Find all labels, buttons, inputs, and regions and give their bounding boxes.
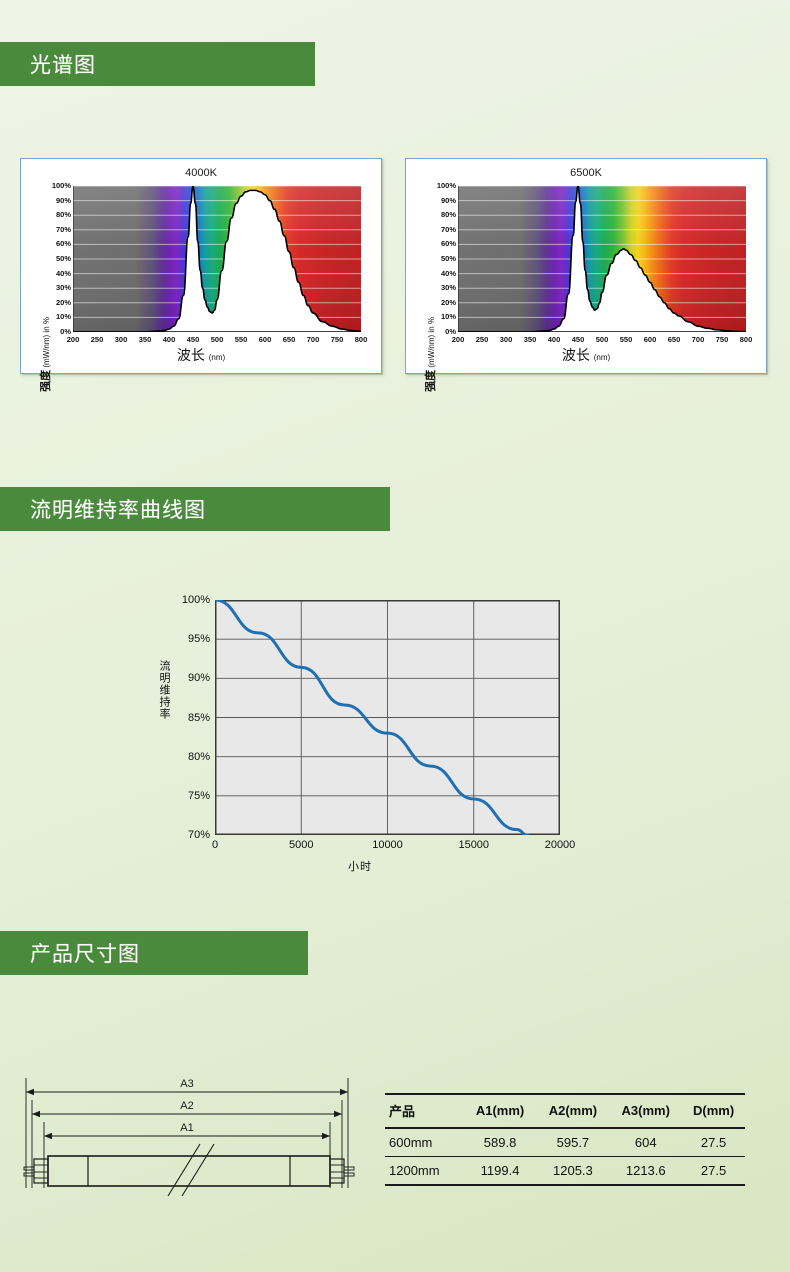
spectrum-ytick: 90%	[441, 197, 456, 205]
spectrum-xtick: 250	[476, 335, 489, 344]
table-row: 600mm589.8595.760427.5	[385, 1128, 745, 1157]
table-cell: 27.5	[682, 1128, 745, 1157]
spectrum-xtick: 500	[596, 335, 609, 344]
spectrum-chart-6500k-title: 6500K	[406, 167, 766, 179]
spectrum-xtick: 750	[331, 335, 344, 344]
product-dimension-drawing: A3A2A1	[18, 1060, 373, 1225]
spectrum-xtick: 600	[644, 335, 657, 344]
dimension-label: A3	[180, 1078, 193, 1090]
spectrum-ytick: 40%	[441, 270, 456, 278]
table-column-header: A1(mm)	[464, 1094, 537, 1128]
spectrum-xtick: 350	[139, 335, 152, 344]
spectrum-ytick: 100%	[52, 182, 71, 190]
spectrum-xtick: 700	[307, 335, 320, 344]
spectrum-ytick: 20%	[441, 299, 456, 307]
lumen-xtick: 5000	[289, 839, 313, 851]
spectrum-ytick: 10%	[56, 313, 71, 321]
table-body: 600mm589.8595.760427.51200mm1199.41205.3…	[385, 1128, 745, 1185]
table-cell: 595.7	[536, 1128, 609, 1157]
section-title-dimension: 产品尺寸图	[0, 938, 140, 968]
lumen-ytick: 80%	[188, 752, 210, 763]
spectrum-chart-4000k-xlabel: 波长 (nm)	[21, 345, 381, 365]
spectrum-ytick: 50%	[441, 255, 456, 263]
lumen-chart-yticks: 70%75%80%85%90%95%100%	[150, 590, 210, 845]
spectrum-xtick: 450	[187, 335, 200, 344]
spectrum-ytick: 20%	[56, 299, 71, 307]
lumen-xtick: 20000	[545, 839, 576, 851]
spectrum-xtick: 800	[740, 335, 753, 344]
lumen-ytick: 100%	[182, 595, 210, 606]
spectrum-ytick: 30%	[441, 284, 456, 292]
spectrum-chart-4000k-plot	[73, 186, 361, 332]
spectrum-xtick: 400	[548, 335, 561, 344]
dimension-table: 产品A1(mm)A2(mm)A3(mm)D(mm) 600mm589.8595.…	[385, 1093, 745, 1186]
spectrum-xtick: 400	[163, 335, 176, 344]
lumen-ytick: 75%	[188, 791, 210, 802]
table-column-header: A3(mm)	[609, 1094, 682, 1128]
spectrum-xtick: 650	[283, 335, 296, 344]
table-column-header: 产品	[385, 1094, 464, 1128]
table-cell: 600mm	[385, 1128, 464, 1157]
lumen-chart-xticks: 05000100001500020000	[190, 839, 590, 855]
spectrum-xtick: 450	[572, 335, 585, 344]
spectrum-ytick: 80%	[441, 211, 456, 219]
spectrum-chart-4000k: 4000K 强度 (mW/nm) in % 0%10%20%30%40%50%6…	[20, 158, 382, 374]
spectrum-xtick: 200	[67, 335, 80, 344]
spectrum-xtick: 700	[692, 335, 705, 344]
spectrum-xtick: 800	[355, 335, 368, 344]
dimension-label: A1	[180, 1122, 193, 1134]
lumen-xtick: 10000	[372, 839, 403, 851]
spectrum-xtick: 550	[620, 335, 633, 344]
lumen-ytick: 95%	[188, 634, 210, 645]
spectrum-ytick: 70%	[56, 226, 71, 234]
section-header-spectrum: 光谱图	[0, 42, 315, 86]
section-title-lumen: 流明维持率曲线图	[0, 494, 206, 524]
table-column-header: A2(mm)	[536, 1094, 609, 1128]
table-cell: 1200mm	[385, 1157, 464, 1186]
spectrum-ytick: 60%	[441, 240, 456, 248]
table-cell: 27.5	[682, 1157, 745, 1186]
spectrum-xtick: 500	[211, 335, 224, 344]
section-header-dimension: 产品尺寸图	[0, 931, 308, 975]
spectrum-ytick: 90%	[56, 197, 71, 205]
lumen-xtick: 0	[212, 839, 218, 851]
table-row: 1200mm1199.41205.31213.627.5	[385, 1157, 745, 1186]
spectrum-xtick: 200	[452, 335, 465, 344]
table-cell: 1199.4	[464, 1157, 537, 1186]
lumen-chart-plot	[215, 600, 560, 835]
spectrum-chart-6500k-plot	[458, 186, 746, 332]
spectrum-chart-6500k-xlabel: 波长 (nm)	[406, 345, 766, 365]
spectrum-xtick: 600	[259, 335, 272, 344]
spectrum-ytick: 50%	[56, 255, 71, 263]
spectrum-xtick: 350	[524, 335, 537, 344]
spectrum-chart-4000k-title: 4000K	[21, 167, 381, 179]
spectrum-xtick: 300	[115, 335, 128, 344]
spectrum-ytick: 30%	[56, 284, 71, 292]
spectrum-xtick: 550	[235, 335, 248, 344]
table-cell: 1205.3	[536, 1157, 609, 1186]
spectrum-chart-4000k-yticks: 0%10%20%30%40%50%60%70%80%90%100%	[35, 181, 71, 337]
spectrum-ytick: 100%	[437, 182, 456, 190]
spectrum-ytick: 70%	[441, 226, 456, 234]
table-cell: 1213.6	[609, 1157, 682, 1186]
spectrum-ytick: 40%	[56, 270, 71, 278]
lumen-chart-xlabel: 小时	[150, 858, 570, 874]
lumen-ytick: 85%	[188, 713, 210, 724]
spectrum-xtick: 650	[668, 335, 681, 344]
lumen-ytick: 90%	[188, 673, 210, 684]
table-cell: 604	[609, 1128, 682, 1157]
dimension-label: A2	[180, 1100, 193, 1112]
spectrum-ytick: 60%	[56, 240, 71, 248]
spectrum-chart-6500k: 6500K 强度 (mW/nm) in % 0%10%20%30%40%50%6…	[405, 158, 767, 374]
table-cell: 589.8	[464, 1128, 537, 1157]
lumen-xtick: 15000	[458, 839, 489, 851]
spectrum-ytick: 80%	[56, 211, 71, 219]
spectrum-xtick: 250	[91, 335, 104, 344]
spectrum-xtick: 750	[716, 335, 729, 344]
section-header-lumen: 流明维持率曲线图	[0, 487, 390, 531]
spectrum-xtick: 300	[500, 335, 513, 344]
lumen-maintenance-chart: 流明维持率 70%75%80%85%90%95%100% 05000100001…	[150, 590, 570, 880]
section-title-spectrum: 光谱图	[0, 49, 96, 79]
table-column-header: D(mm)	[682, 1094, 745, 1128]
spectrum-ytick: 10%	[441, 313, 456, 321]
table-header-row: 产品A1(mm)A2(mm)A3(mm)D(mm)	[385, 1094, 745, 1128]
product-spec-page: 光谱图 4000K 强度 (mW/nm) in % 0%10%20%30%40%…	[0, 0, 790, 1272]
spectrum-chart-6500k-yticks: 0%10%20%30%40%50%60%70%80%90%100%	[420, 181, 456, 337]
